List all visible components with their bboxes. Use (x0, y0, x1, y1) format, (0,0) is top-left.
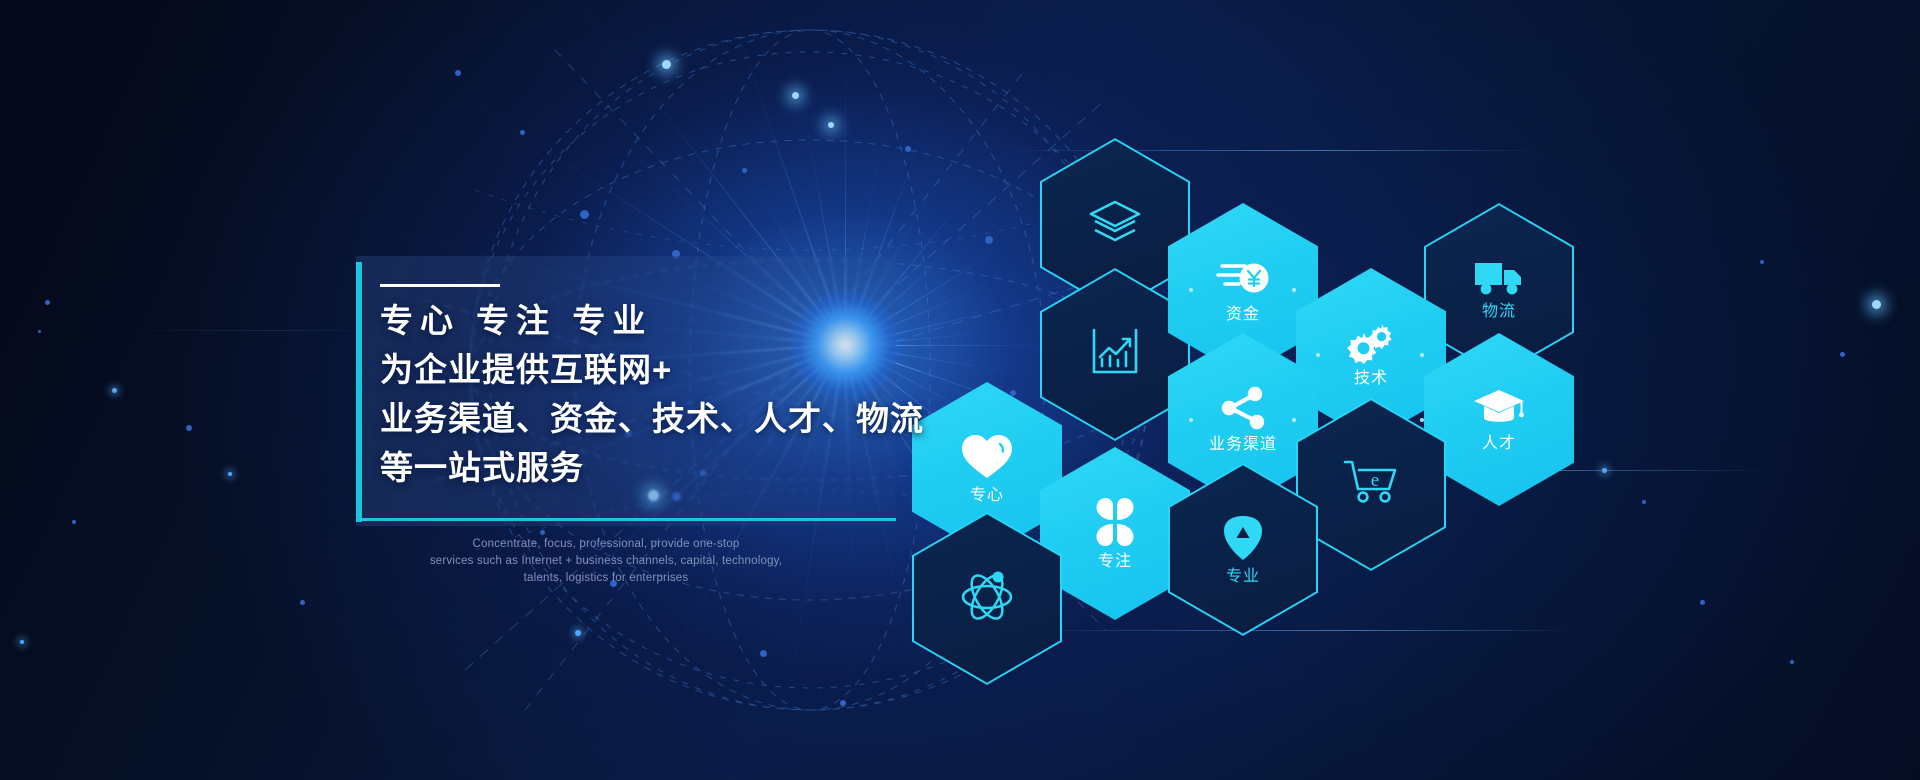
hex-chart[interactable] (1040, 268, 1190, 441)
hex-label: 人才 (1482, 436, 1516, 452)
layers-icon (1087, 197, 1143, 245)
diamond-icon (1220, 514, 1266, 562)
heart-icon (960, 433, 1014, 481)
clover-icon (1090, 497, 1140, 547)
hex-label: 专注 (1098, 554, 1132, 570)
hex-label: 专心 (970, 488, 1004, 504)
hex-focus[interactable]: 专注 (1040, 447, 1190, 620)
hex-label: 技术 (1354, 371, 1388, 387)
graduation-cap-icon (1472, 387, 1526, 429)
panel-accent-bar (356, 262, 362, 522)
subtitle-text: Concentrate, focus, professional, provid… (416, 536, 796, 587)
svg-text:e: e (1371, 470, 1379, 491)
headline-line-2: 为企业提供互联网+ (380, 345, 910, 394)
headline-line-4: 等一站式服务 (380, 443, 910, 492)
subtitle-line-2: services such as Internet + business cha… (416, 553, 796, 570)
hex-label: 专业 (1226, 569, 1260, 585)
atom-icon (959, 569, 1015, 621)
hex-talent[interactable]: 人才 (1424, 333, 1574, 506)
hex-label: 资金 (1226, 307, 1260, 323)
yen-money-icon (1215, 256, 1271, 300)
hex-ecommerce[interactable]: e (1296, 398, 1446, 571)
hexagon-cluster: 资金 物流 (0, 0, 1920, 780)
subtitle-line-1: Concentrate, focus, professional, provid… (416, 536, 796, 553)
hex-label: 业务渠道 (1209, 437, 1277, 453)
subtitle-line-3: talents, logistics for enterprises (416, 570, 796, 587)
bar-chart-icon (1089, 325, 1141, 377)
headline-line-3: 业务渠道、资金、技术、人才、物流 (380, 394, 910, 443)
hex-professional[interactable]: 专业 (1168, 463, 1318, 636)
banner-stage: 资金 物流 (0, 0, 1920, 780)
headline-line-1: 专心 专注 专业 (380, 296, 910, 345)
share-nodes-icon (1218, 386, 1268, 430)
panel-underline (356, 518, 896, 521)
hex-atom[interactable] (912, 512, 1062, 685)
headline-tick-mark (380, 284, 500, 287)
truck-icon (1473, 259, 1525, 297)
shopping-cart-e-icon: e (1342, 458, 1400, 504)
page-title: 专心 专注 专业 为企业提供互联网+ 业务渠道、资金、技术、人才、物流 等一站式… (380, 296, 910, 492)
hex-label: 物流 (1482, 304, 1516, 320)
gears-icon (1346, 322, 1396, 364)
